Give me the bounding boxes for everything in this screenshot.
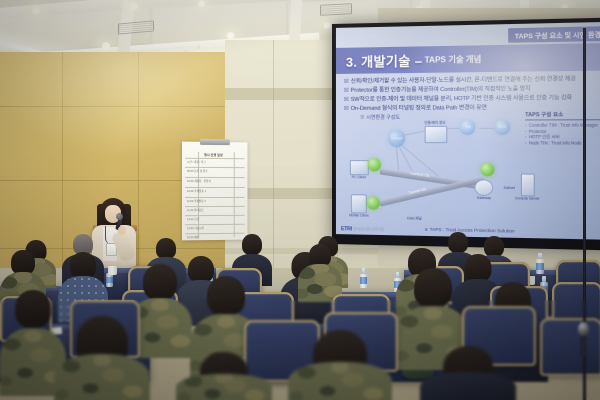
downlight xyxy=(100,42,112,50)
node-gateway-green xyxy=(481,163,495,177)
slide-title: 3. 개발기술 – xyxy=(346,50,423,70)
slide-ribbon: TAPS 구성 요소 및 시연 환경 xyxy=(508,26,600,43)
node-label-manager: Manager xyxy=(386,136,408,140)
clip-icon xyxy=(200,139,230,145)
bullet-item: ☒SW적으로 인증-제어 및 데이터 채널을 분리, HOTP 기반 인증 시스… xyxy=(344,96,600,104)
pc-client-icon xyxy=(350,160,369,175)
console-server-icon xyxy=(521,173,535,196)
node-label-mobile-client: Mobile Client xyxy=(342,213,376,218)
microphone-icon xyxy=(578,322,589,336)
notice-row: 11:40 질의응답 xyxy=(187,208,204,212)
presenter-hand xyxy=(118,226,126,235)
notice-row: 10:20 주제발표 1 xyxy=(187,189,206,193)
slide-title-sub: TAPS 기술 개념 xyxy=(425,54,482,66)
gateway-icon xyxy=(474,179,493,196)
chair xyxy=(540,318,600,376)
notice-row: 15:00 폐회 xyxy=(187,235,199,239)
node-label-console-server: Console Server xyxy=(510,196,544,201)
etri-logo-sub: 한국전자통신연구원 xyxy=(353,226,384,232)
slide-title-number: 3. xyxy=(346,55,357,70)
node-label-gateway: Gateway xyxy=(468,196,500,201)
bullet-item: ☒신뢰/확인/제거할 수 있는 사용자-단말-노드를 실시간, 온-디맨드로 연… xyxy=(344,77,600,86)
network-diagram: Manager TIM HOTP 인증/제어 정보 PC Client Mobi… xyxy=(336,111,542,228)
notice-row: 11:00 주제발표 2 xyxy=(187,199,206,203)
bullet-item: ☒Protector를 통한 인증기능을 제공하여 Controller(TIM… xyxy=(344,87,600,95)
presentation-slide: 3. 개발기술 – TAPS 기술 개념 TAPS 구성 요소 및 시연 환경 … xyxy=(336,22,600,240)
notice-board: 행사 진행 일정 시간 / 내용 / 비고 09:30 등록 및 접수 10:0… xyxy=(182,142,248,241)
downlight xyxy=(225,32,236,39)
bullet-text: SW적으로 인증-제어 및 데이터 채널을 분리, HOTP 기반 인증 시스템… xyxy=(351,95,572,103)
notice-row: 시간 / 내용 / 비고 xyxy=(187,160,206,164)
notice-row: 10:00 개회사 · 환영사 xyxy=(187,179,211,183)
mobile-client-icon xyxy=(351,194,367,213)
downlight xyxy=(30,6,42,14)
attendee-foreground xyxy=(420,346,516,400)
projection-screen: 3. 개발기술 – TAPS 기술 개념 TAPS 구성 요소 및 시연 환경 … xyxy=(332,18,600,251)
attendee-foreground xyxy=(288,330,392,400)
node-pc-client xyxy=(368,158,381,171)
downlight xyxy=(322,22,332,29)
conference-photo: 행사 진행 일정 시간 / 내용 / 비고 09:30 등록 및 접수 10:0… xyxy=(0,0,600,400)
etri-logo: ETRI 한국전자통신연구원 xyxy=(341,226,384,233)
bullet-text: Protector를 통한 인증기능을 제공하여 Controller(TIM)… xyxy=(351,86,531,94)
node-label-subnet: Subnet xyxy=(498,186,521,190)
tunnel-note: Data 채널 xyxy=(394,215,435,221)
slide-title-dash: – xyxy=(415,54,423,69)
water-bottle xyxy=(536,253,544,274)
component-item: Node TIN : Trust Info Node xyxy=(525,140,600,146)
node-label-hotp: HOTP xyxy=(491,125,513,129)
components-box: TAPS 구성 요소 Controller TIM : Trust Info M… xyxy=(525,111,600,146)
water-bottle xyxy=(360,268,367,288)
node-label-tim: TIM xyxy=(458,125,479,129)
components-title: TAPS 구성 요소 xyxy=(525,111,600,121)
notice-row: 13:30 기술시연 xyxy=(187,226,204,230)
microphone-icon xyxy=(116,213,123,220)
slide-title-main: 개발기술 xyxy=(361,54,411,70)
notice-title: 행사 진행 일정 xyxy=(204,152,223,157)
attendee-foreground xyxy=(54,316,150,400)
attendee-foreground xyxy=(176,352,272,400)
diagram-note: 인증/제어 정보 xyxy=(418,120,451,125)
node-label-pc-client: PC Client xyxy=(344,175,374,179)
bullet-text: 신뢰/확인/제거할 수 있는 사용자-단말-노드를 실시간, 온-디맨드로 연결… xyxy=(351,76,576,85)
downlight xyxy=(128,2,140,10)
protector-icon xyxy=(425,126,448,143)
ceiling-vent xyxy=(320,3,352,16)
paper-cup xyxy=(108,266,117,275)
notice-row: 12:00 오찬 xyxy=(187,217,199,221)
node-mobile-client xyxy=(367,196,380,209)
etri-logo-text: ETRI xyxy=(341,226,352,232)
downlight xyxy=(196,0,207,7)
mic-stand-neck xyxy=(581,334,586,356)
notice-row: 09:30 등록 및 접수 xyxy=(187,169,208,173)
